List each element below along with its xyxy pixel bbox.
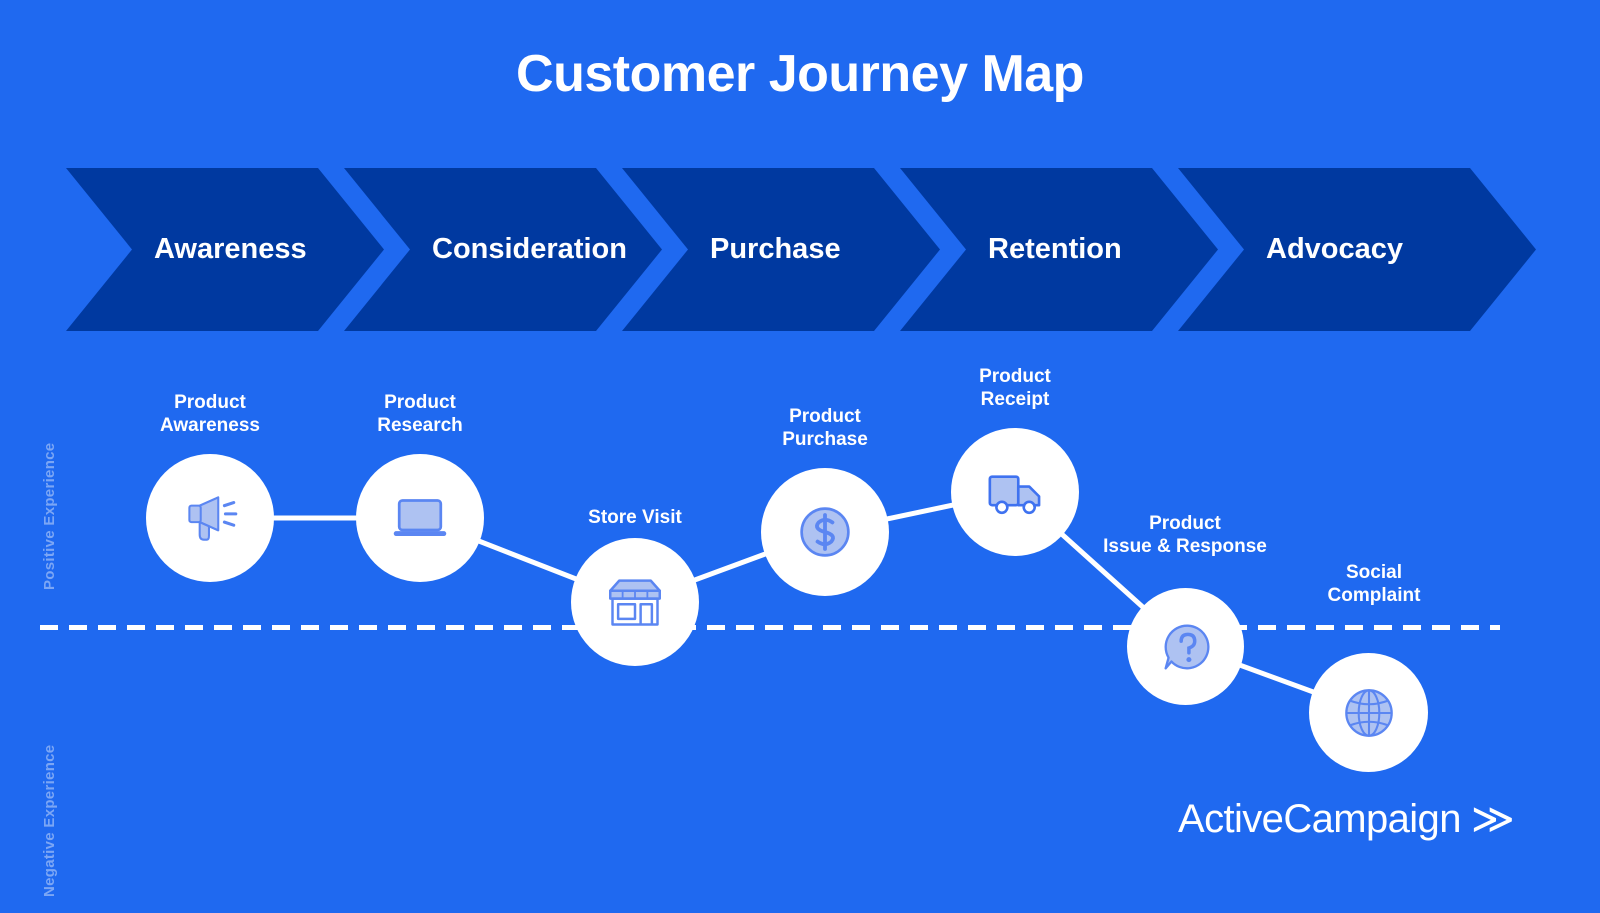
customer-journey-map: Customer Journey Map Awareness Considera… [0,0,1600,913]
delivery-truck-icon [980,457,1050,527]
chevron-right-icon: ≫ [1471,798,1515,840]
journey-connector-path [0,0,1600,913]
globe-icon [1336,680,1402,746]
stage-label: Awareness [154,233,307,266]
dollar-coin-icon [791,498,859,566]
stage-chevron-retention[interactable]: Retention [900,168,1218,331]
stage-chevron-consideration[interactable]: Consideration [344,168,662,331]
brand-logo[interactable]: ActiveCampaign ≫ [1178,798,1515,840]
question-bubble-icon [1155,616,1217,678]
laptop-icon [385,483,455,553]
stage-label: Retention [988,233,1122,266]
touchpoint-label: Product Issue & Response [1055,512,1315,558]
megaphone-icon [177,485,243,551]
stage-label: Consideration [432,233,627,266]
touchpoint-circle[interactable] [571,538,699,666]
axis-label-positive: Positive Experience [41,443,58,590]
touchpoint-circle[interactable] [1309,653,1428,772]
touchpoint-circle[interactable] [356,454,484,582]
stage-chevron-purchase[interactable]: Purchase [622,168,940,331]
storefront-icon [599,566,671,638]
stage-banner: Awareness Consideration Purchase Retenti… [66,168,1536,331]
touchpoint-circle[interactable] [146,454,274,582]
touchpoint-label: Product Research [290,391,550,437]
stage-chevron-awareness[interactable]: Awareness [66,168,384,331]
stage-label: Purchase [710,233,841,266]
touchpoint-label: Social Complaint [1244,561,1504,607]
touchpoint-label: Product Purchase [695,405,955,451]
brand-name: ActiveCampaign [1178,799,1461,839]
page-title: Customer Journey Map [0,48,1600,100]
touchpoint-circle[interactable] [1127,588,1244,705]
neutral-experience-divider [40,625,1500,630]
touchpoint-circle[interactable] [761,468,889,596]
touchpoint-label: Product Receipt [885,365,1145,411]
touchpoint-label: Store Visit [505,506,765,529]
stage-label: Advocacy [1266,233,1403,266]
stage-chevron-advocacy[interactable]: Advocacy [1178,168,1536,331]
axis-label-negative: Negative Experience [41,745,58,897]
